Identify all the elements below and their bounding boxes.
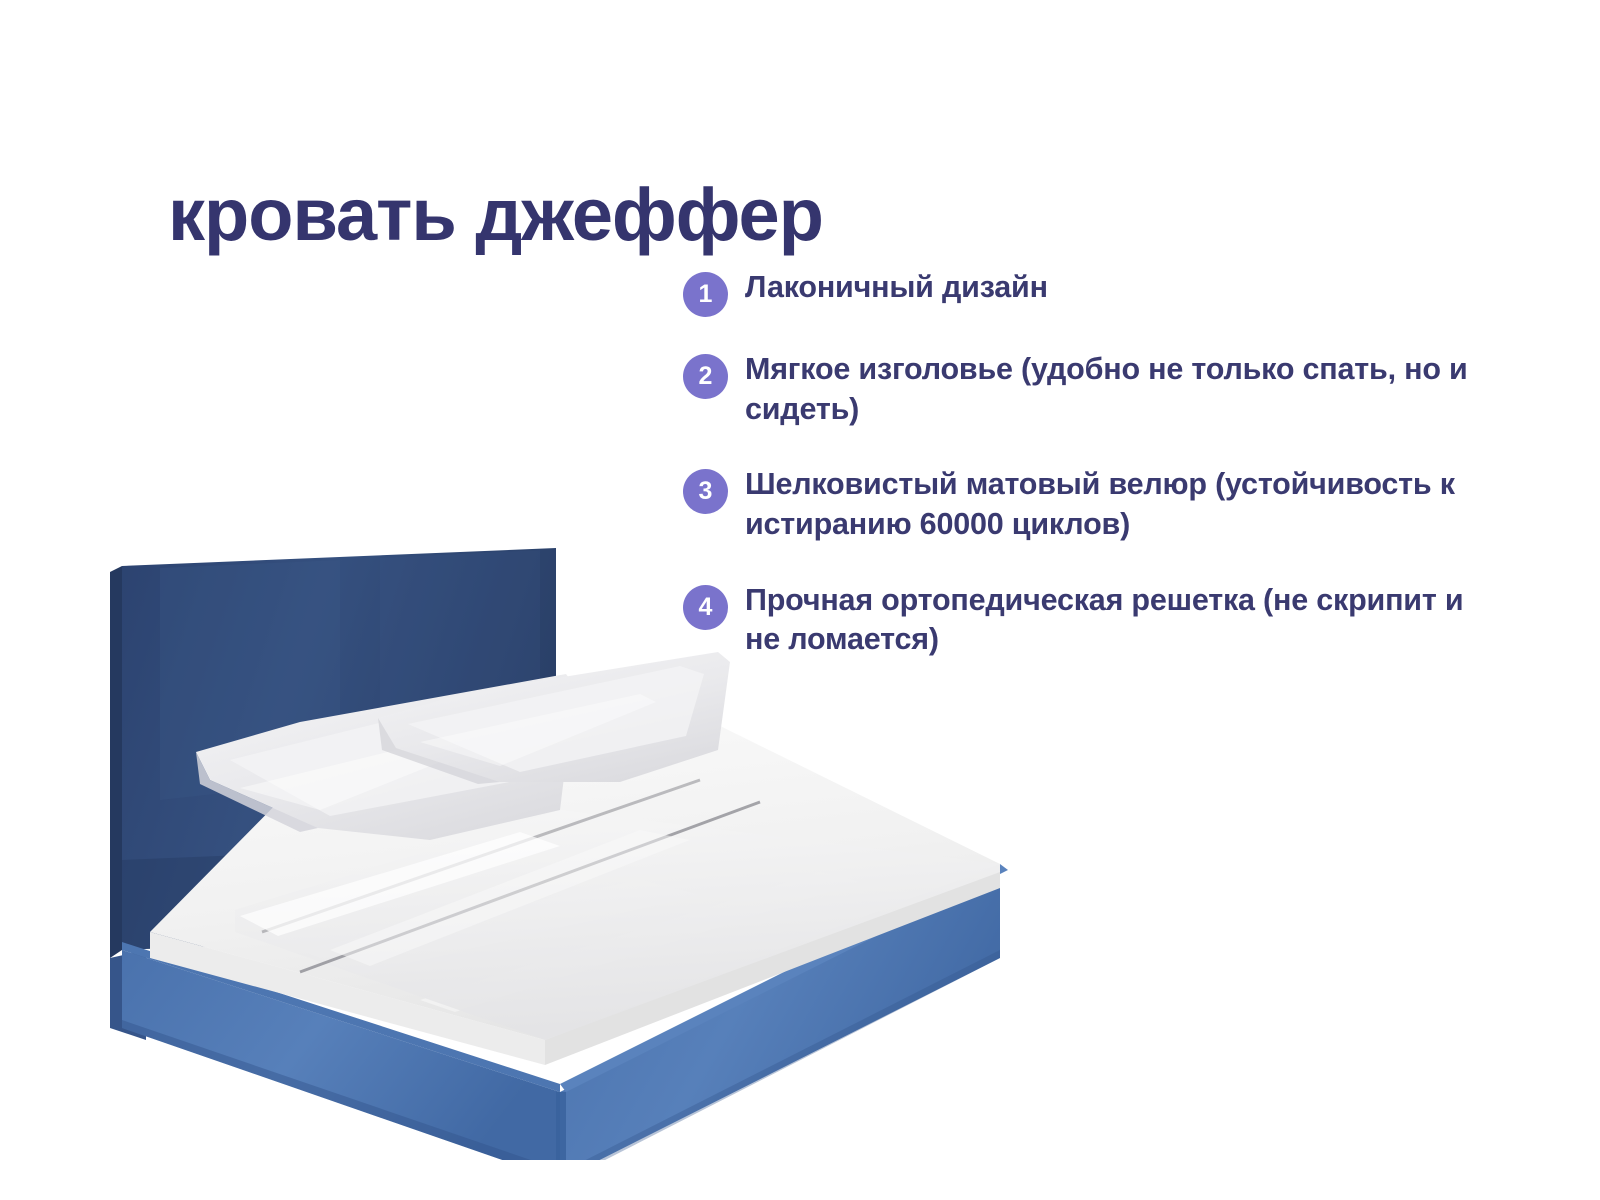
feature-item-1: 1 Лаконичный дизайн [683, 268, 1503, 318]
feature-text-1: Лаконичный дизайн [745, 268, 1503, 308]
feature-number-badge-2: 2 [683, 354, 728, 399]
infographic-canvas: кровать джеффер 1 Лаконичный дизайн 2 Мя… [0, 0, 1600, 1200]
page-title: кровать джеффер [168, 176, 823, 254]
bed-photo [0, 480, 1060, 1160]
feature-text-2: Мягкое изголовье (удобно не только спать… [745, 350, 1503, 429]
feature-item-2: 2 Мягкое изголовье (удобно не только спа… [683, 350, 1503, 429]
feature-number-badge-1: 1 [683, 272, 728, 317]
